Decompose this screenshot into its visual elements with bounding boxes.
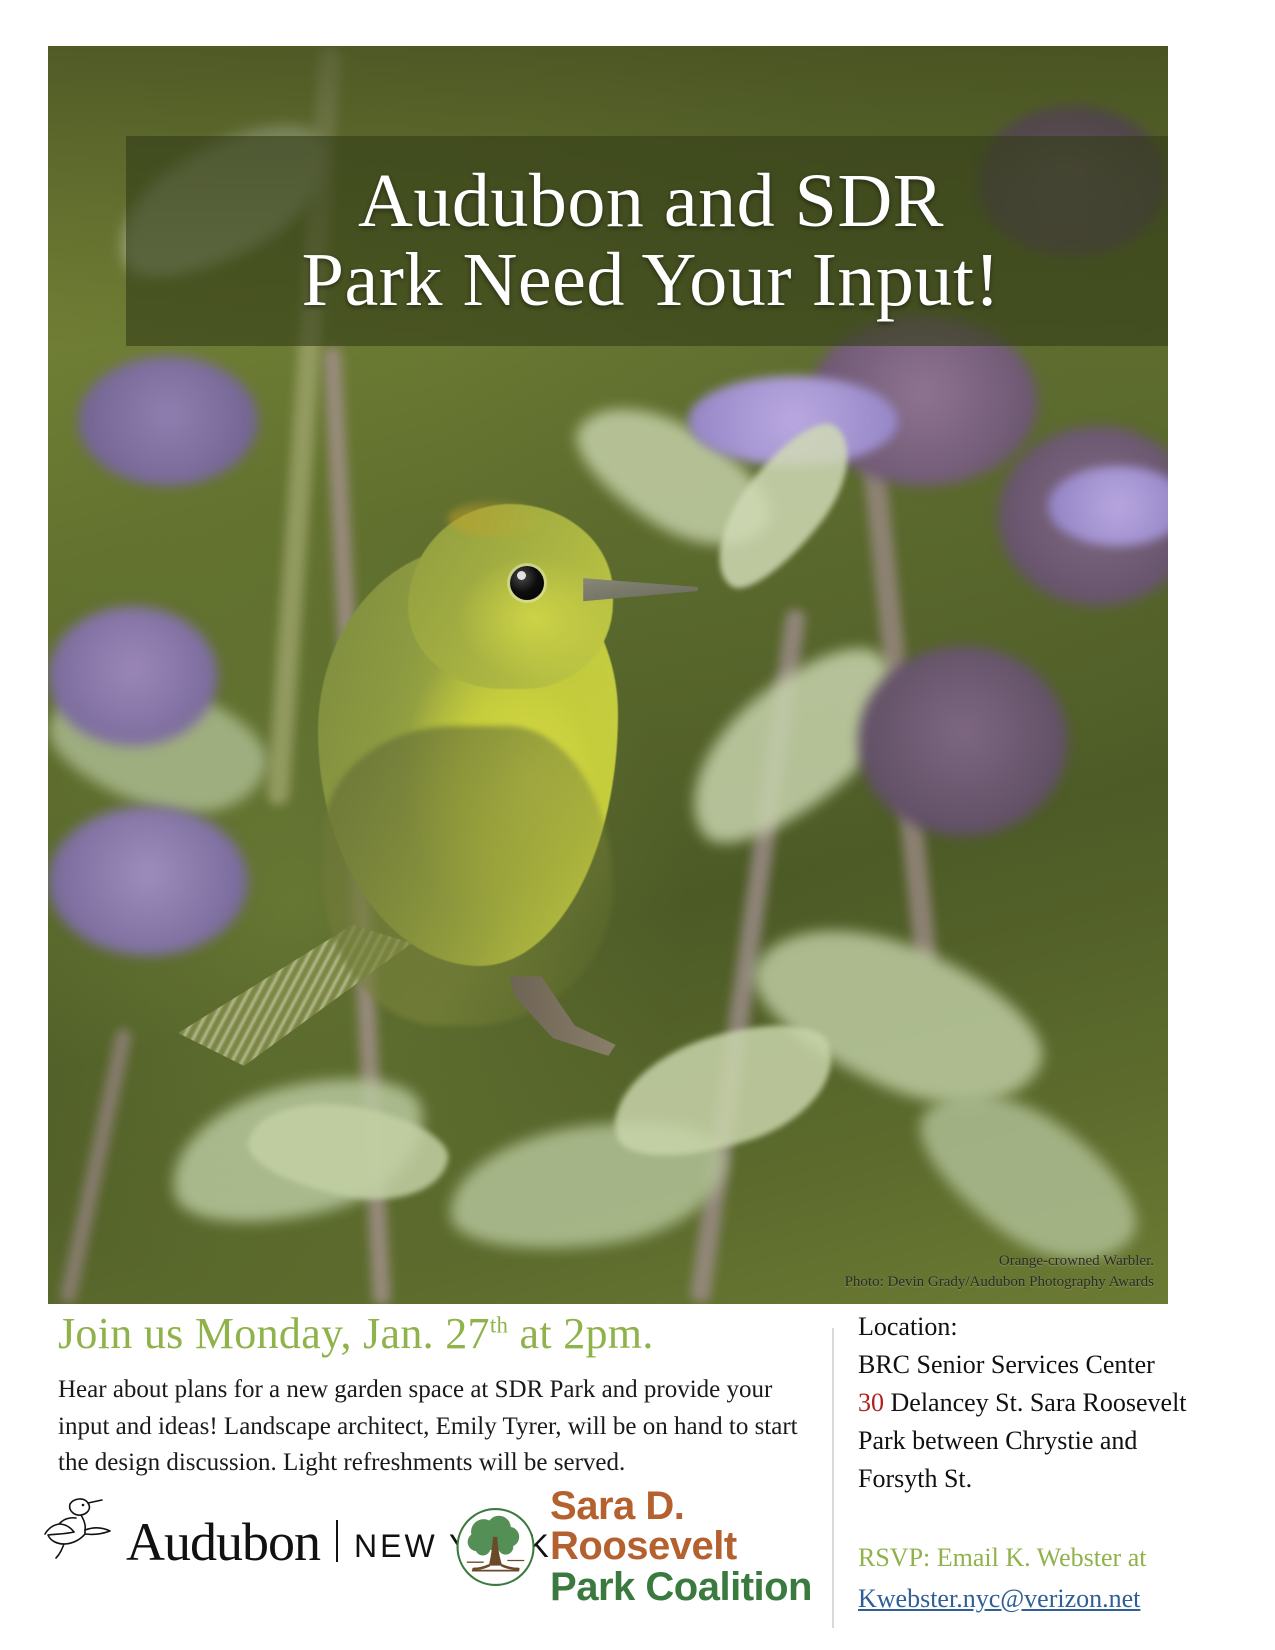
- event-headline: Join us Monday, Jan. 27th at 2pm.: [58, 1310, 818, 1358]
- bird-eye: [510, 566, 544, 600]
- sdr-coalition-line: Park Coalition: [550, 1567, 830, 1607]
- headline-prefix: Join us Monday, Jan. 27: [58, 1309, 490, 1358]
- event-description: Hear about plans for a new garden space …: [58, 1372, 818, 1481]
- sdr-wordmark: Sara D. Roosevelt Park Coalition: [550, 1486, 830, 1607]
- rsvp-text: RSVP: Email K. Webster at: [858, 1543, 1146, 1572]
- sdr-name-line: Sara D. Roosevelt: [550, 1486, 830, 1566]
- photo-credit-photographer: Photo: Devin Grady/Audubon Photography A…: [845, 1272, 1154, 1294]
- rsvp-block: RSVP: Email K. Webster at Kwebster.nyc@v…: [858, 1538, 1218, 1618]
- location-venue: BRC Senior Services Center: [858, 1350, 1155, 1379]
- photo-credit-subject: Orange-crowned Warbler.: [845, 1251, 1154, 1273]
- hero-photo: Audubon and SDR Park Need Your Input! Or…: [48, 46, 1168, 1304]
- bird-crown: [448, 502, 543, 536]
- bird-wing: [323, 726, 613, 1026]
- page-title: Audubon and SDR Park Need Your Input!: [302, 162, 1001, 320]
- salvia-bloom: [48, 606, 218, 746]
- title-line-2: Park Need Your Input!: [302, 238, 1001, 322]
- rsvp-email-link[interactable]: Kwebster.nyc@verizon.net: [858, 1579, 1218, 1618]
- flyer-page: Audubon and SDR Park Need Your Input! Or…: [0, 0, 1275, 1650]
- photo-credit: Orange-crowned Warbler. Photo: Devin Gra…: [845, 1251, 1154, 1295]
- lower-content: Join us Monday, Jan. 27th at 2pm. Hear a…: [0, 1310, 1275, 1650]
- headline-ordinal: th: [490, 1312, 508, 1337]
- sdr-park-coalition-logo: Sara D. Roosevelt Park Coalition: [455, 1486, 830, 1607]
- left-column: Join us Monday, Jan. 27th at 2pm. Hear a…: [58, 1310, 818, 1481]
- bird-eye-glint: [517, 571, 526, 580]
- location-line-3: Park between Chrystie and: [858, 1426, 1137, 1455]
- logo-divider: [336, 1520, 338, 1562]
- title-line-1: Audubon and SDR: [358, 159, 944, 243]
- location-street-number: 30: [858, 1388, 884, 1417]
- audubon-wordmark: Audubon: [126, 1517, 320, 1568]
- warbler-bird: [198, 476, 758, 1096]
- location-street-rest: Delancey St. Sara Roosevelt: [884, 1388, 1187, 1417]
- location-line-4: Forsyth St.: [858, 1464, 972, 1493]
- location-label: Location:: [858, 1312, 958, 1341]
- egret-icon: [40, 1494, 122, 1564]
- salvia-bloom: [78, 356, 258, 486]
- title-banner: Audubon and SDR Park Need Your Input!: [126, 136, 1168, 346]
- salvia-bloom: [858, 646, 1068, 836]
- logo-row: Audubon NEW YORK: [40, 1480, 830, 1600]
- location-block: Location: BRC Senior Services Center 30 …: [858, 1308, 1218, 1498]
- headline-suffix: at 2pm.: [508, 1309, 653, 1358]
- right-column: Location: BRC Senior Services Center 30 …: [852, 1308, 1218, 1618]
- column-divider: [832, 1328, 834, 1628]
- tree-circle-icon: [455, 1499, 536, 1595]
